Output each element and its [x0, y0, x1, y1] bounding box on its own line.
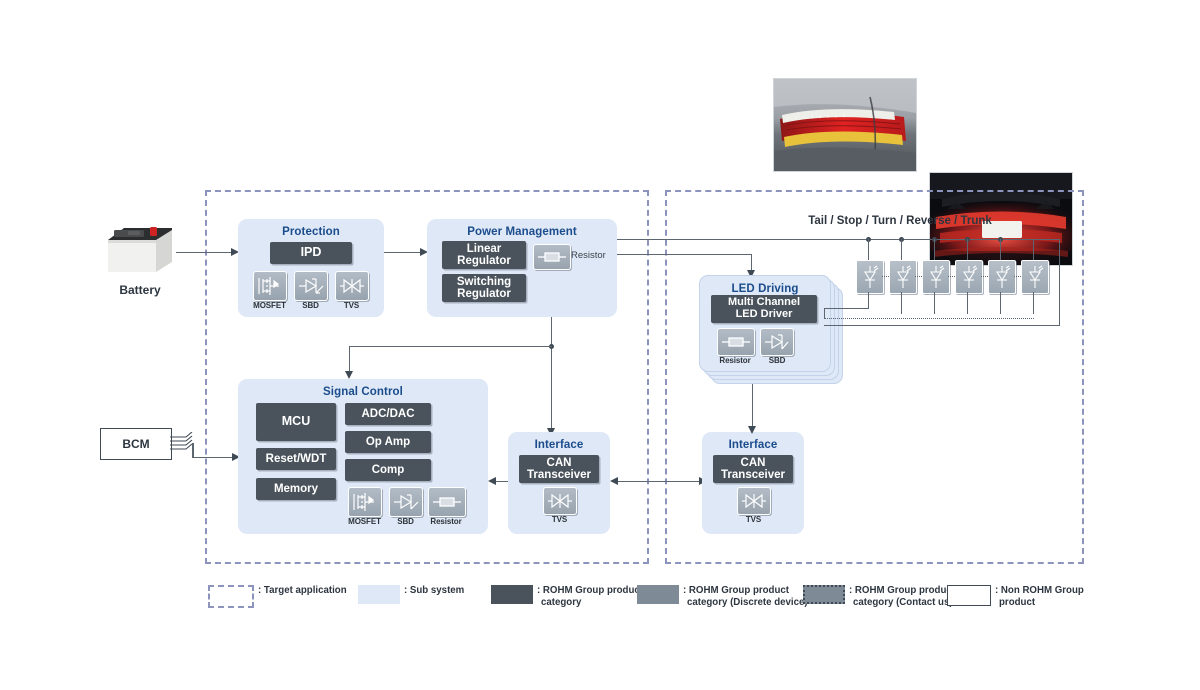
led-icon-4[interactable] — [955, 260, 983, 294]
led-drop-2 — [901, 239, 902, 261]
led-dotted-link-2 — [915, 276, 922, 277]
photo-tail-lamp-closeup — [773, 78, 917, 172]
product-switching-regulator[interactable]: Switching Regulator — [442, 274, 526, 302]
legend-item-non-rohm: : Non ROHM Group product — [947, 585, 1084, 610]
led-return-bus-1 — [824, 308, 869, 309]
product-memory[interactable]: Memory — [256, 478, 336, 500]
mosfet-label: MOSFET — [247, 301, 292, 310]
linear-regulator-line1: Linear — [467, 243, 502, 255]
legend-swatch-target-application — [208, 585, 254, 608]
legend-item-sub-system: : Sub system — [358, 585, 464, 604]
led-return-1 — [868, 292, 869, 309]
arrow-interface-left — [610, 477, 618, 485]
can-right-line1: CAN — [741, 457, 766, 469]
can-left-line2: Transceiver — [527, 469, 591, 481]
legend-item-rohm-product: : ROHM Group product category — [491, 585, 643, 610]
product-ipd[interactable]: IPD — [270, 242, 352, 264]
led-driving-sbd-icon[interactable] — [760, 328, 794, 356]
switching-regulator-line1: Switching — [457, 276, 511, 288]
signal-mosfet-icon[interactable] — [348, 487, 382, 517]
arrow-signal-left — [488, 477, 496, 485]
product-mcu[interactable]: MCU — [256, 403, 336, 441]
led-driving-title: LED Driving — [700, 283, 830, 295]
signal-control-title: Signal Control — [238, 386, 488, 398]
led-return-bus-dotted — [824, 318, 1034, 319]
arrow-down-interface-right — [748, 426, 756, 434]
product-multi-channel-led-driver[interactable]: Multi Channel LED Driver — [711, 295, 817, 323]
led-icon-5[interactable] — [988, 260, 1016, 294]
sbd-label: SBD — [288, 301, 333, 310]
led-drop-3 — [934, 239, 935, 261]
wire-protection-to-power — [384, 252, 422, 253]
led-icon-2[interactable] — [889, 260, 917, 294]
signal-sbd-icon[interactable] — [389, 487, 423, 517]
product-comp[interactable]: Comp — [345, 459, 431, 481]
led-return-6 — [1033, 292, 1034, 314]
led-return-5 — [1000, 292, 1001, 314]
rail-label: Tail / Stop / Turn / Reverse / Trunk — [700, 215, 1100, 227]
led-icon-6[interactable] — [1021, 260, 1049, 294]
product-can-transceiver-right[interactable]: CAN Transceiver — [713, 455, 793, 483]
legend-swatch-rohm-contact — [803, 585, 845, 604]
signal-sbd-label: SBD — [383, 517, 428, 526]
legend-text-non-rohm: : Non ROHM Group product — [995, 585, 1084, 610]
signal-mosfet-label: MOSFET — [342, 517, 387, 526]
interface-right-title: Interface — [702, 439, 804, 451]
arrow-power-to-signal-control — [345, 371, 353, 379]
wire-bcm-vertical — [192, 443, 194, 458]
wire-power-to-led-rail — [617, 239, 1060, 240]
wire-bcm-to-signal-control — [192, 457, 234, 458]
signal-resistor-icon[interactable] — [428, 487, 466, 517]
interface-right-tvs-label: TVS — [731, 515, 776, 524]
product-op-amp[interactable]: Op Amp — [345, 431, 431, 453]
led-return-bus-right-drop — [1059, 281, 1060, 326]
led-driving-resistor-icon[interactable] — [717, 328, 755, 356]
legend-swatch-rohm-discrete — [637, 585, 679, 604]
legend-item-rohm-discrete: : ROHM Group product category (Discrete … — [637, 585, 808, 610]
legend-text-rohm-contact: : ROHM Group product category (Contact u… — [849, 585, 955, 610]
legend-item-target-application: : Target application — [208, 585, 347, 608]
product-reset-wdt[interactable]: Reset/WDT — [256, 448, 336, 470]
led-rail-right-end — [1059, 239, 1060, 281]
led-driving-sbd-label: SBD — [756, 356, 798, 365]
wire-led-driving-to-interface-right — [752, 382, 753, 428]
battery-graphic — [104, 222, 176, 278]
signal-resistor-label: Resistor — [423, 517, 469, 526]
product-can-transceiver-left[interactable]: CAN Transceiver — [519, 455, 599, 483]
led-return-4 — [967, 292, 968, 314]
wire-power-to-signal-control-v — [349, 346, 350, 373]
power-resistor-label: Resistor — [571, 250, 606, 261]
led-icon-3[interactable] — [922, 260, 950, 294]
led-drop-4 — [967, 239, 968, 261]
led-dotted-link-5 — [1014, 276, 1021, 277]
led-icon-1[interactable] — [856, 260, 884, 294]
linear-regulator-line2: Regulator — [457, 255, 511, 267]
wire-power-to-signal-control-h — [349, 346, 552, 347]
legend-text-sub-system: : Sub system — [404, 585, 464, 597]
interface-left-title: Interface — [508, 439, 610, 451]
diagram-canvas: Battery BCM Protection IPD MOSFET — [0, 0, 1200, 690]
led-return-3 — [934, 292, 935, 314]
led-driving-resistor-label: Resistor — [712, 356, 758, 365]
legend-swatch-non-rohm — [947, 585, 991, 606]
power-management-title: Power Management — [427, 226, 617, 238]
led-driver-line2: LED Driver — [736, 309, 793, 321]
product-linear-regulator[interactable]: Linear Regulator — [442, 241, 526, 269]
interface-left-tvs-icon[interactable] — [543, 487, 577, 515]
bcm-box: BCM — [100, 428, 172, 460]
resistor-icon[interactable] — [533, 244, 571, 270]
legend-item-rohm-contact: : ROHM Group product category (Contact u… — [803, 585, 955, 610]
wire-power-to-led-driving-h — [617, 254, 752, 255]
schottky-diode-icon[interactable] — [294, 271, 328, 301]
tvs-diode-icon[interactable] — [335, 271, 369, 301]
battery-label: Battery — [104, 283, 176, 297]
legend-text-target-application: : Target application — [258, 585, 347, 597]
protection-title: Protection — [238, 226, 384, 238]
wire-battery-to-protection — [176, 252, 233, 253]
led-dotted-link-3 — [948, 276, 955, 277]
led-return-bus-1-drop — [824, 308, 825, 318]
interface-left-tvs-label: TVS — [537, 515, 582, 524]
switching-regulator-line2: Regulator — [457, 288, 511, 300]
led-drop-5 — [1000, 239, 1001, 261]
mosfet-icon[interactable] — [253, 271, 287, 301]
legend-swatch-sub-system — [358, 585, 400, 604]
led-dotted-link-4 — [981, 276, 988, 277]
led-drop-1 — [868, 239, 869, 261]
tvs-label: TVS — [329, 301, 374, 310]
led-return-2 — [901, 292, 902, 314]
interface-right-tvs-icon[interactable] — [737, 487, 771, 515]
legend-swatch-rohm-product — [491, 585, 533, 604]
led-drop-6 — [1033, 239, 1034, 261]
can-right-line2: Transceiver — [721, 469, 785, 481]
legend-text-rohm-product: : ROHM Group product category — [537, 585, 643, 610]
led-return-bus-bottom — [824, 325, 1060, 326]
wire-interface-left-to-right — [618, 481, 701, 482]
can-left-line1: CAN — [547, 457, 572, 469]
wire-power-bus-vertical — [551, 317, 552, 435]
product-adc-dac[interactable]: ADC/DAC — [345, 403, 431, 425]
legend-text-rohm-discrete: : ROHM Group product category (Discrete … — [683, 585, 808, 610]
led-dotted-link-1 — [882, 276, 889, 277]
